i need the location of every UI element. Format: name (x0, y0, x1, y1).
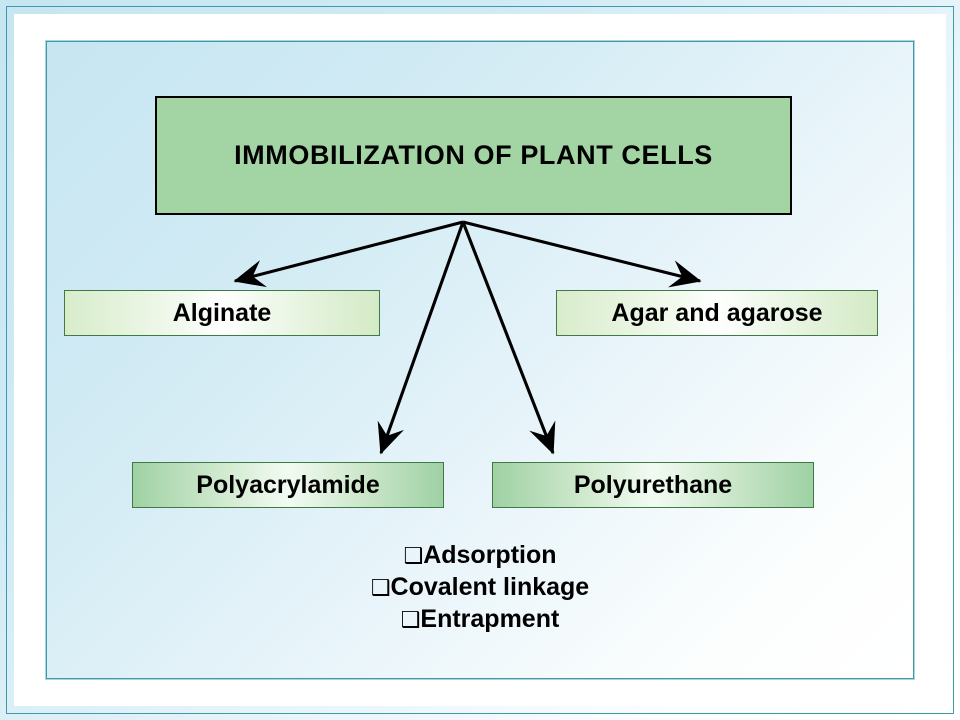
node-alginate: Alginate (64, 290, 380, 336)
list-item: ❑Covalent linkage (220, 572, 740, 604)
list-item-label: Entrapment (420, 605, 559, 633)
node-agar-and-agarose: Agar and agarose (556, 290, 878, 336)
square-bullet-icon: ❑ (371, 576, 391, 601)
node-alginate-label: Alginate (173, 299, 272, 328)
list-item-label: Adsorption (423, 541, 556, 569)
list-item: ❑Entrapment (220, 604, 740, 636)
square-bullet-icon: ❑ (403, 544, 423, 569)
list-item-label: Covalent linkage (391, 573, 590, 601)
list-item: ❑Adsorption (220, 540, 740, 572)
slide-canvas: IMMOBILIZATION OF PLANT CELLS Alginate A… (0, 0, 960, 720)
node-polyacrylamide: Polyacrylamide (132, 462, 444, 508)
square-bullet-icon: ❑ (401, 608, 421, 633)
node-polyurethane: Polyurethane (492, 462, 814, 508)
immobilization-methods-list: ❑Adsorption ❑Covalent linkage ❑Entrapmen… (220, 540, 740, 636)
node-agar-and-agarose-label: Agar and agarose (611, 299, 822, 328)
node-polyurethane-label: Polyurethane (574, 471, 732, 500)
title-box: IMMOBILIZATION OF PLANT CELLS (155, 96, 792, 215)
title-box-label: IMMOBILIZATION OF PLANT CELLS (234, 140, 713, 171)
node-polyacrylamide-label: Polyacrylamide (196, 471, 379, 500)
